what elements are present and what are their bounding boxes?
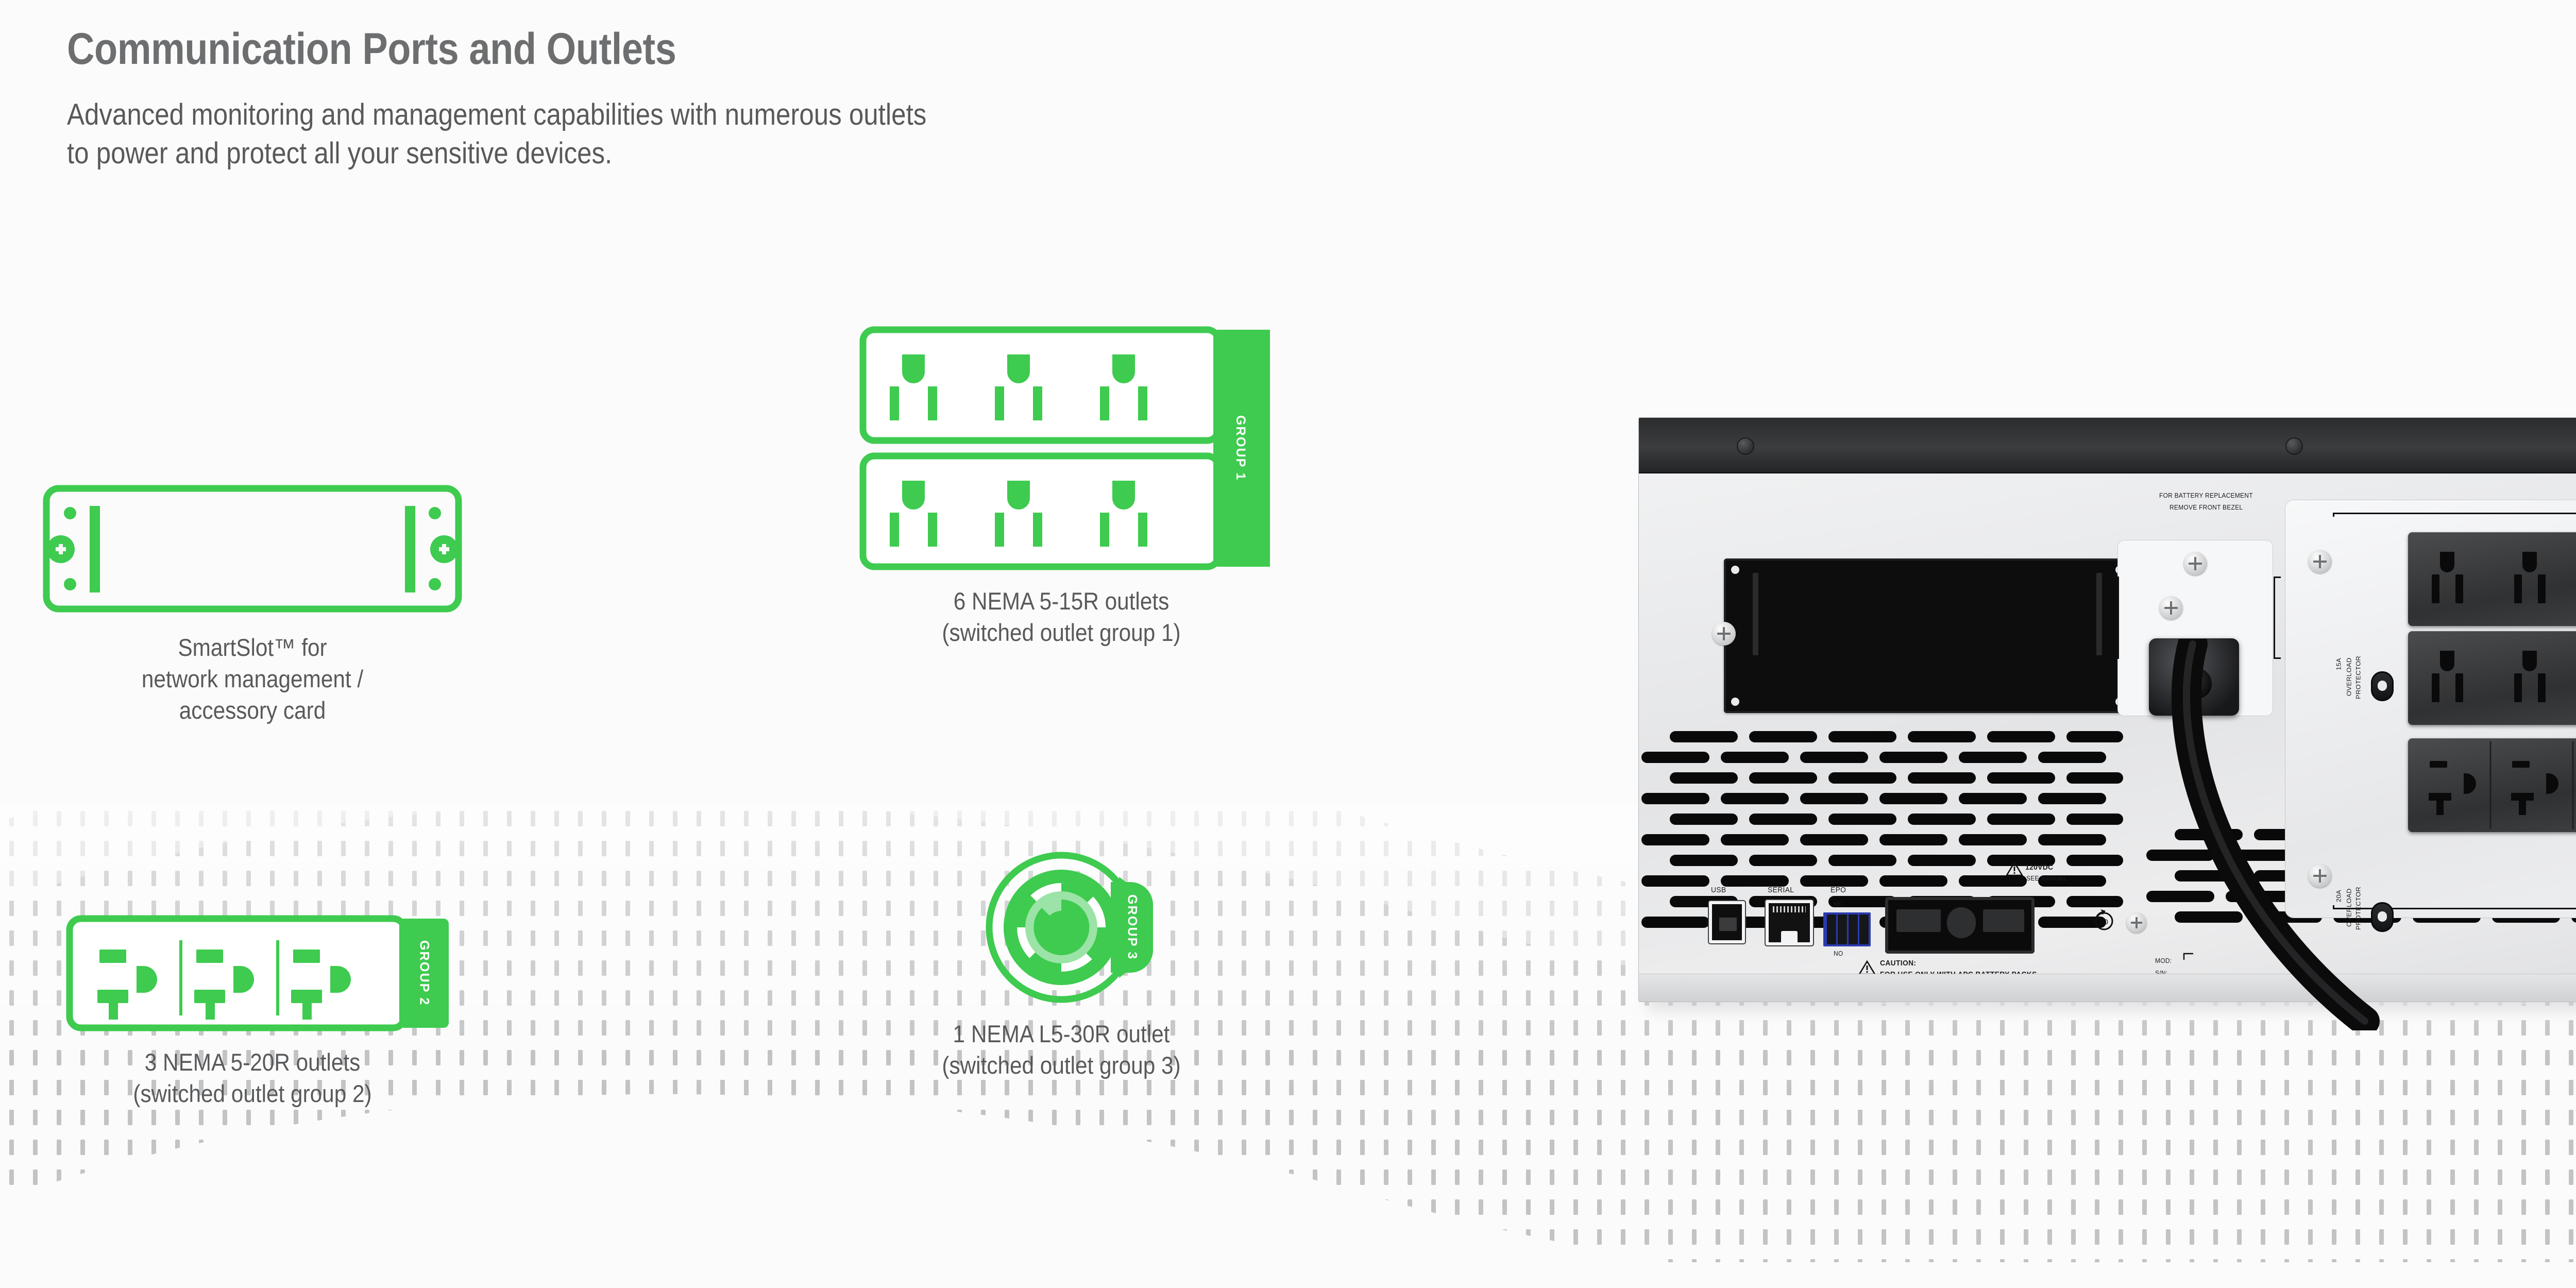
vent-slot (2066, 814, 2123, 825)
battery-connector-slot (1896, 909, 1941, 932)
bay-rail (1753, 573, 1758, 655)
page-title: Communication Ports and Outlets (67, 26, 907, 72)
nema-5-15r-outlets-icon: GROUP 1 (853, 325, 1270, 572)
bay-dot (1731, 698, 1739, 706)
vent-slot (1721, 834, 1789, 845)
vent-slot (1879, 752, 1947, 763)
vent-slot (1749, 855, 1817, 866)
power-cord (2143, 639, 2473, 1030)
group-2-tag: GROUP 2 (399, 919, 449, 1028)
vent-slot (2066, 896, 2123, 907)
panel-screw (2308, 550, 2332, 573)
nema-5-20r-label-line-1: 3 NEMA 5-20R outlets (60, 1046, 445, 1078)
epo-terminal-block[interactable] (1823, 912, 1871, 946)
vent-slot (1670, 731, 1738, 742)
vent-slot (1828, 814, 1896, 825)
nema-5-20r-label-line-2: (switched outlet group 2) (60, 1078, 445, 1109)
cord-bracket-left (2112, 577, 2119, 659)
smartslot-label: SmartSlot™ for network management / acce… (44, 632, 461, 726)
nema-l5-30r-outlet-icon: GROUP 3 (927, 850, 1195, 1005)
group-3-tag: GROUP 3 (1111, 882, 1153, 973)
vent-slot (1721, 752, 1789, 763)
page-header: Communication Ports and Outlets Advanced… (67, 26, 1044, 173)
dc-warning-label: 120VDC (2025, 863, 2053, 872)
epo-label: EPO (1831, 886, 1846, 894)
warning-triangle-icon (2006, 861, 2023, 876)
vent-slot (1959, 752, 2027, 763)
usb-port[interactable] (1709, 901, 1745, 943)
vent-slot (1828, 772, 1896, 784)
vent-slot (2066, 731, 2123, 742)
vent-slot (1670, 855, 1738, 866)
page-subtitle-line-2: to power and protect all your sensitive … (67, 134, 926, 173)
nema-5-20r-label: 3 NEMA 5-20R outlets (switched outlet gr… (60, 1046, 445, 1109)
bezel-screw (1737, 437, 1754, 455)
svg-text:20: 20 (2100, 918, 2108, 926)
smartslot-label-line-1: SmartSlot™ for (44, 632, 461, 663)
feature-nema-5-15r: GROUP 1 6 NEMA 5-15R outlets (switched o… (804, 325, 1319, 648)
battery-connector[interactable] (1885, 897, 2035, 954)
battery-connector-slot (1947, 907, 1976, 938)
page-subtitle-line-1: Advanced monitoring and management capab… (67, 96, 926, 134)
vent-slot (1800, 875, 1868, 887)
feature-smartslot: SmartSlot™ for network management / acce… (21, 479, 484, 726)
nema-5-15r-label-line-1: 6 NEMA 5-15R outlets (829, 585, 1293, 617)
vent-slot (1987, 814, 2055, 825)
smartslot-icon (36, 479, 469, 618)
vent-slot (1749, 814, 1817, 825)
vent-slot (1908, 731, 1976, 742)
recess-screw (2183, 552, 2207, 575)
vent-slot (1959, 834, 2027, 845)
smartslot-label-line-2: network management / (44, 663, 461, 694)
vent-slot (1641, 917, 1709, 928)
vent-slot (1641, 834, 1709, 845)
recess-screw (2159, 596, 2183, 620)
feature-nema-l5-30r: GROUP 3 1 NEMA L5-30R outlet (switched o… (804, 850, 1319, 1081)
battery-connector-slot (1983, 909, 2024, 932)
vent-slot (1879, 834, 1947, 845)
epo-nc-label: NC (1834, 900, 1843, 908)
battery-replacement-note-line-1: FOR BATTERY REPLACEMENT (2159, 492, 2253, 499)
nema-l5-30r-label: 1 NEMA L5-30R outlet (switched outlet gr… (829, 1018, 1293, 1081)
vent-slot (1908, 814, 1976, 825)
nema-5-20r-outlets-icon: GROUP 2 (59, 914, 446, 1033)
battery-replacement-note-line-2: REMOVE FRONT BEZEL (2170, 503, 2243, 511)
vent-slot (1641, 875, 1709, 887)
vent-slot (1879, 793, 1947, 804)
nema-5-15r-label-line-2: (switched outlet group 1) (829, 617, 1293, 648)
rohs-icon: 20 (2092, 909, 2116, 933)
receptacle-group-1-row-1[interactable] (2408, 532, 2576, 626)
caution-triangle-icon (1858, 960, 1876, 975)
nema-5-15r-row (2408, 532, 2576, 626)
vent-slot (1987, 772, 2055, 784)
vent-slot (1721, 793, 1789, 804)
vent-slot (1641, 752, 1709, 763)
dc-warning-sub-label: SEE MANUAL (2026, 874, 2067, 882)
bay-screw (1712, 622, 1736, 646)
vent-slot (2066, 772, 2123, 784)
ups-top-bezel (1639, 418, 2576, 473)
bezel-screw (2285, 437, 2303, 455)
vent-slot (2038, 834, 2106, 845)
vent-slot (1749, 731, 1817, 742)
vent-slot (1641, 793, 1709, 804)
vent-slot (1908, 855, 1976, 866)
feature-nema-5-20r: GROUP 2 3 NEMA 5-20R outlets (switched o… (39, 914, 466, 1109)
vent-slot (1800, 834, 1868, 845)
vent-slot (1959, 793, 2027, 804)
vent-slot (2038, 793, 2106, 804)
ups-product-image: FOR BATTERY REPLACEMENT REMOVE FRONT BEZ… (1638, 417, 2576, 1010)
vent-slot (1800, 752, 1868, 763)
serial-label: SERIAL (1768, 886, 1794, 894)
smartslot-bay (1724, 558, 2131, 713)
vent-slot (1959, 875, 2027, 887)
vent-slot (2038, 752, 2106, 763)
nema-5-15r-label: 6 NEMA 5-15R outlets (switched outlet gr… (829, 585, 1293, 648)
epo-no-label: NO (1834, 950, 1843, 957)
nema-l5-30r-label-line-2: (switched outlet group 3) (829, 1049, 1293, 1081)
vent-slot (1721, 875, 1789, 887)
bay-dot (1731, 566, 1739, 574)
vent-slot (1800, 793, 1868, 804)
vent-slot (1879, 875, 1947, 887)
panel-bracket-top (2333, 513, 2576, 517)
usb-label: USB (1711, 886, 1726, 894)
vent-slot (1987, 731, 2055, 742)
serial-port[interactable] (1766, 900, 1813, 945)
group-1-tag: GROUP 1 (1213, 330, 1267, 567)
vent-slot (1749, 772, 1817, 784)
smartslot-label-line-3: accessory card (44, 694, 461, 726)
vent-slot (1670, 814, 1738, 825)
vent-slot (1828, 731, 1896, 742)
vent-slot (1908, 772, 1976, 784)
page-subtitle: Advanced monitoring and management capab… (67, 96, 926, 172)
vent-slot (1670, 772, 1738, 784)
vent-slot (1828, 855, 1896, 866)
caution-title: CAUTION: (1880, 959, 1916, 968)
vent-slot (2066, 855, 2123, 866)
bay-rail (2096, 573, 2102, 655)
nema-l5-30r-label-line-1: 1 NEMA L5-30R outlet (829, 1018, 1293, 1049)
